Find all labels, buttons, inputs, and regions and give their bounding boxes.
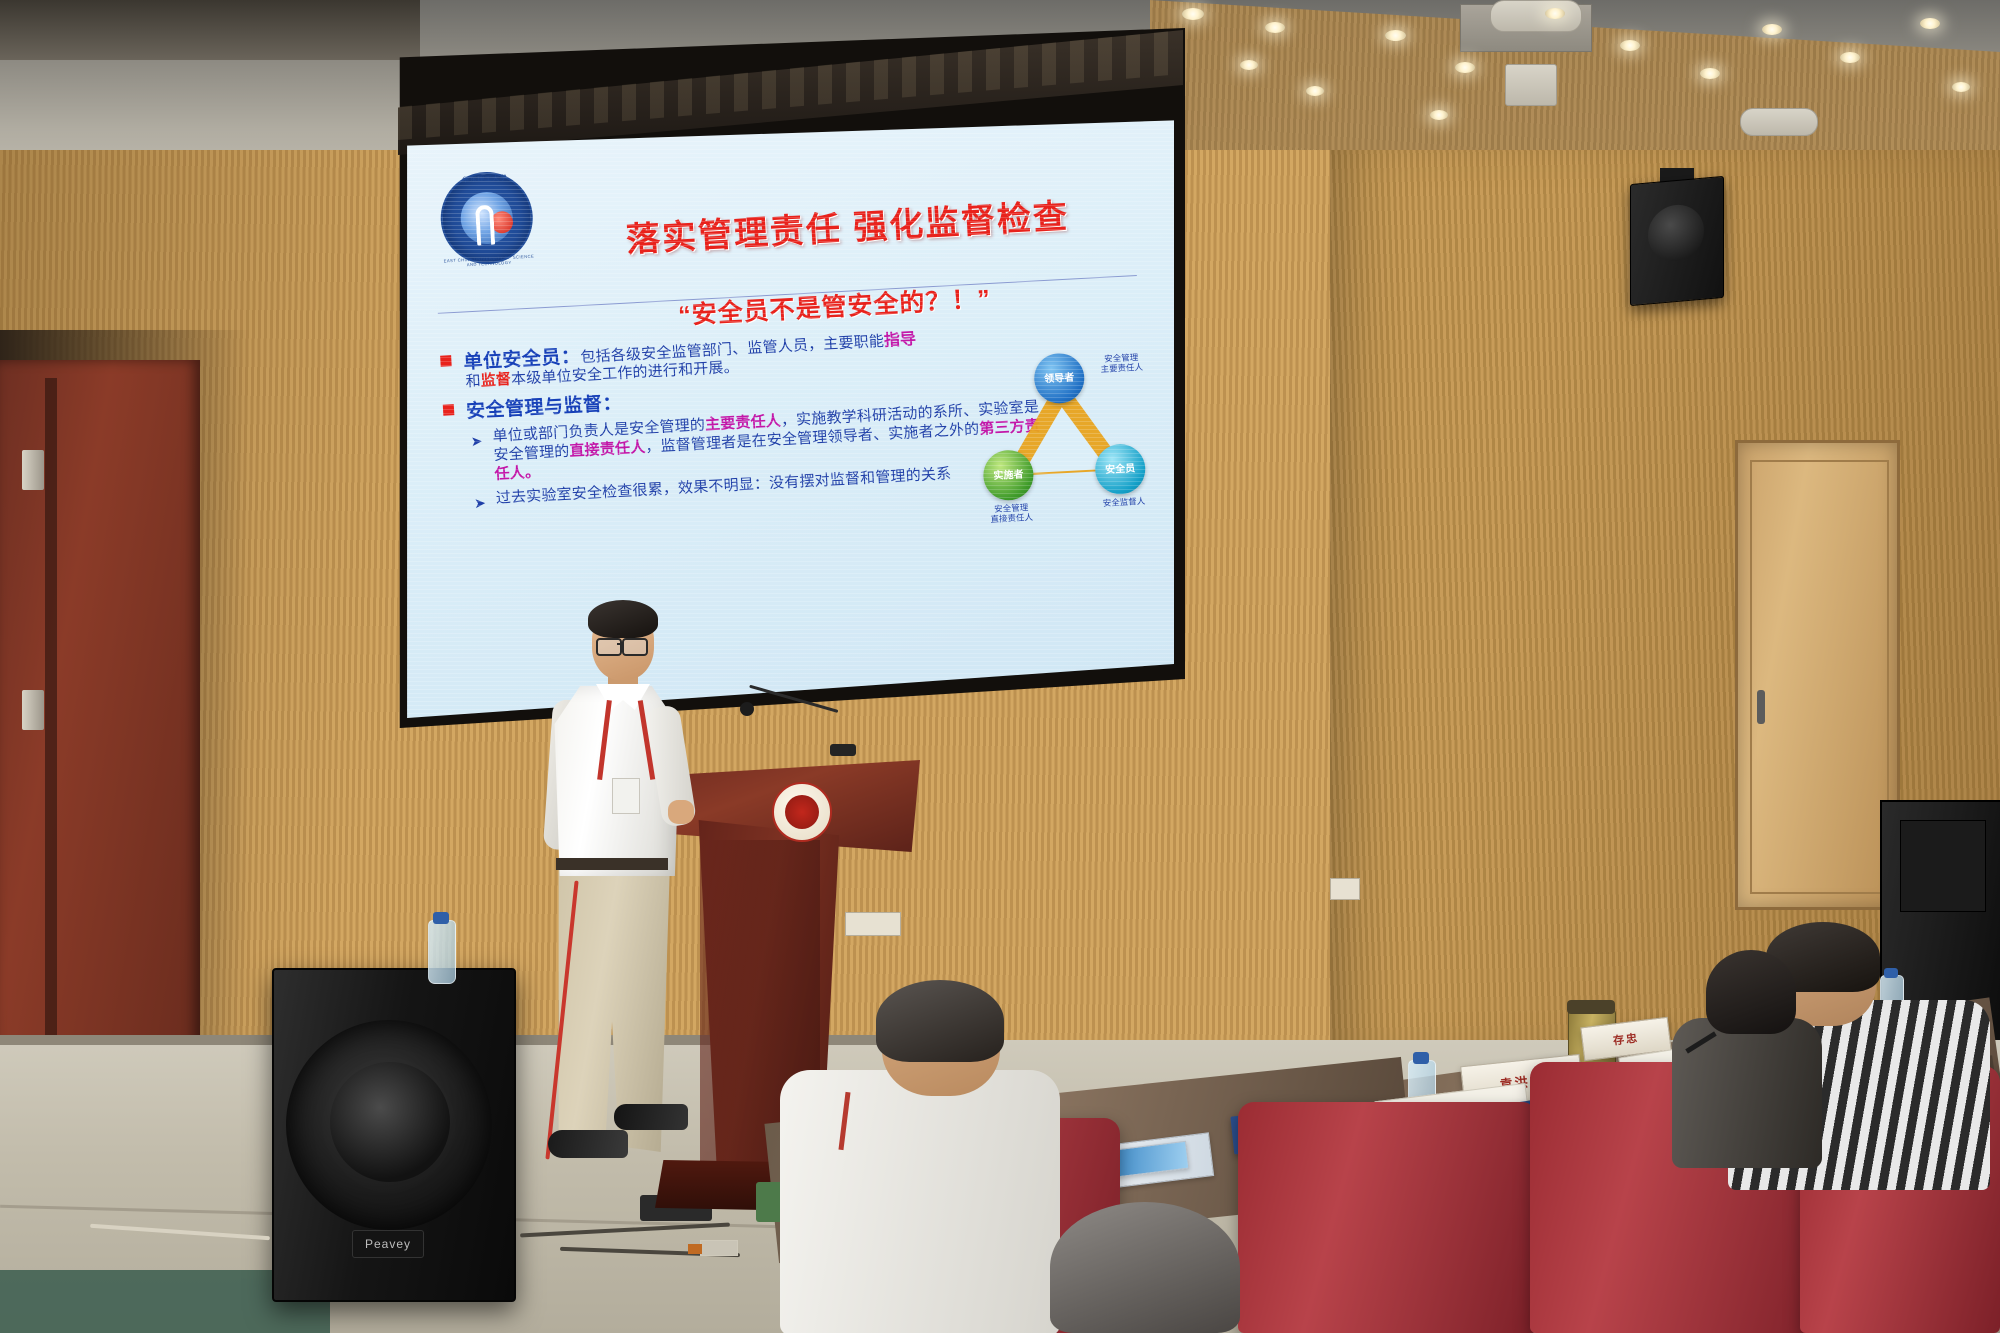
bullet-1-colon: ： [560,346,581,368]
water-bottle-cap-far [1884,968,1898,978]
downlight-13 [1952,82,1970,92]
sub1-h2: 直接责任人 [569,439,646,460]
subwoofer-brand-badge: Peavey [352,1230,424,1258]
triangle-inner-cutout [1020,405,1107,473]
presenter-glasses-right [622,638,648,656]
downlight-4 [1455,62,1475,73]
presenter-glasses-left [596,638,622,656]
presentation-slide: 华东理工大学 EAST CHINA UNIVERSITY OF SCIENCE … [404,118,1174,718]
downlight-9 [1840,52,1860,63]
bullet-1-l2-a: 和 [465,373,481,391]
downlight-11 [1306,86,1324,96]
wall-outlet-center [845,912,901,936]
presenter-hair [588,600,658,638]
right-door-handle[interactable] [1757,690,1765,724]
logo-english-name: EAST CHINA UNIVERSITY OF SCIENCE AND TEC… [439,253,539,268]
downlight-8 [1762,24,1782,35]
sub1-h1: 主要责任人 [705,412,782,433]
arrow-bullet-icon: ➤ [474,495,489,510]
diagram-node-safety-officer: 安全员 [1094,443,1147,496]
downlight-2 [1265,22,1285,33]
ceiling-dark-beam [0,0,420,60]
downlight-5 [1545,8,1565,19]
diagram-caption-implementer: 安全管理 直接责任人 [975,502,1048,525]
bullet-2-colon: ： [602,393,623,415]
floor-orange-marker [688,1244,702,1254]
diagram-caption-safety-officer: 安全监督人 [1089,496,1159,510]
presenter-hand [668,800,694,824]
person-bottom-head [1050,1202,1240,1333]
door-hinge-mid [22,690,44,730]
square-bullet-icon [440,355,452,367]
left-door-edge [45,378,57,1038]
downlight-1 [1182,8,1204,20]
presenter-belt [556,858,668,870]
downlight-10 [1920,18,1940,29]
bullet-2-lead: 安全管理与监督 [466,394,603,422]
subwoofer-cone [330,1062,450,1182]
water-bottle-podium [428,920,456,984]
bullet-1-highlight: 指导 [884,331,917,350]
downlight-14 [1240,60,1258,70]
floor-small-device [700,1240,738,1256]
ceiling-vent-2 [1740,108,1818,136]
presenter-shoe-left [548,1130,628,1158]
thermos-cup-lid [1567,1000,1615,1014]
square-bullet-icon [443,404,455,416]
wall-outlet-right [1330,878,1360,900]
person-front-hair [876,980,1004,1062]
presenter-glasses-bridge [617,643,623,645]
microphone-base [830,744,856,756]
ecust-logo: 华东理工大学 EAST CHINA UNIVERSITY OF SCIENCE … [438,170,535,267]
water-bottle-cap-podium [433,912,449,924]
microphone-head [740,702,754,716]
ceiling-vent-1 [1505,64,1557,106]
water-bottle-cap-rear [1413,1052,1429,1064]
person-rear-body [1672,1018,1822,1168]
person-rear-head [1706,950,1796,1034]
downlight-7 [1700,68,1720,79]
bullet-1-l2-highlight: 监督 [480,371,511,390]
downlight-12 [1430,110,1448,120]
arrow-bullet-icon: ➤ [470,433,485,448]
triangle-relationship-diagram: 领导者 安全管理 主要责任人 实施者 安全管理 直接责任人 安全员 安全监督人 [973,346,1159,515]
podium-university-crest [772,782,832,842]
ceiling-vent-3 [1490,0,1582,32]
chair-right-1 [1238,1102,1538,1333]
downlight-6 [1620,40,1640,51]
door-hinge-top [22,450,44,490]
person-front-body [780,1070,1060,1333]
diagram-caption-leader: 安全管理 主要责任人 [1091,352,1152,375]
presenter-shoe-right [614,1104,688,1130]
lecture-hall-photo: 华东理工大学 EAST CHINA UNIVERSITY OF SCIENCE … [0,0,2000,1333]
right-floor-speaker-grill [1900,820,1986,912]
downlight-3 [1385,30,1406,41]
presenter-id-badge [612,778,640,814]
slide-title: 落实管理责任 强化监督检查 [625,184,1147,261]
right-door-panel [1750,460,1889,894]
